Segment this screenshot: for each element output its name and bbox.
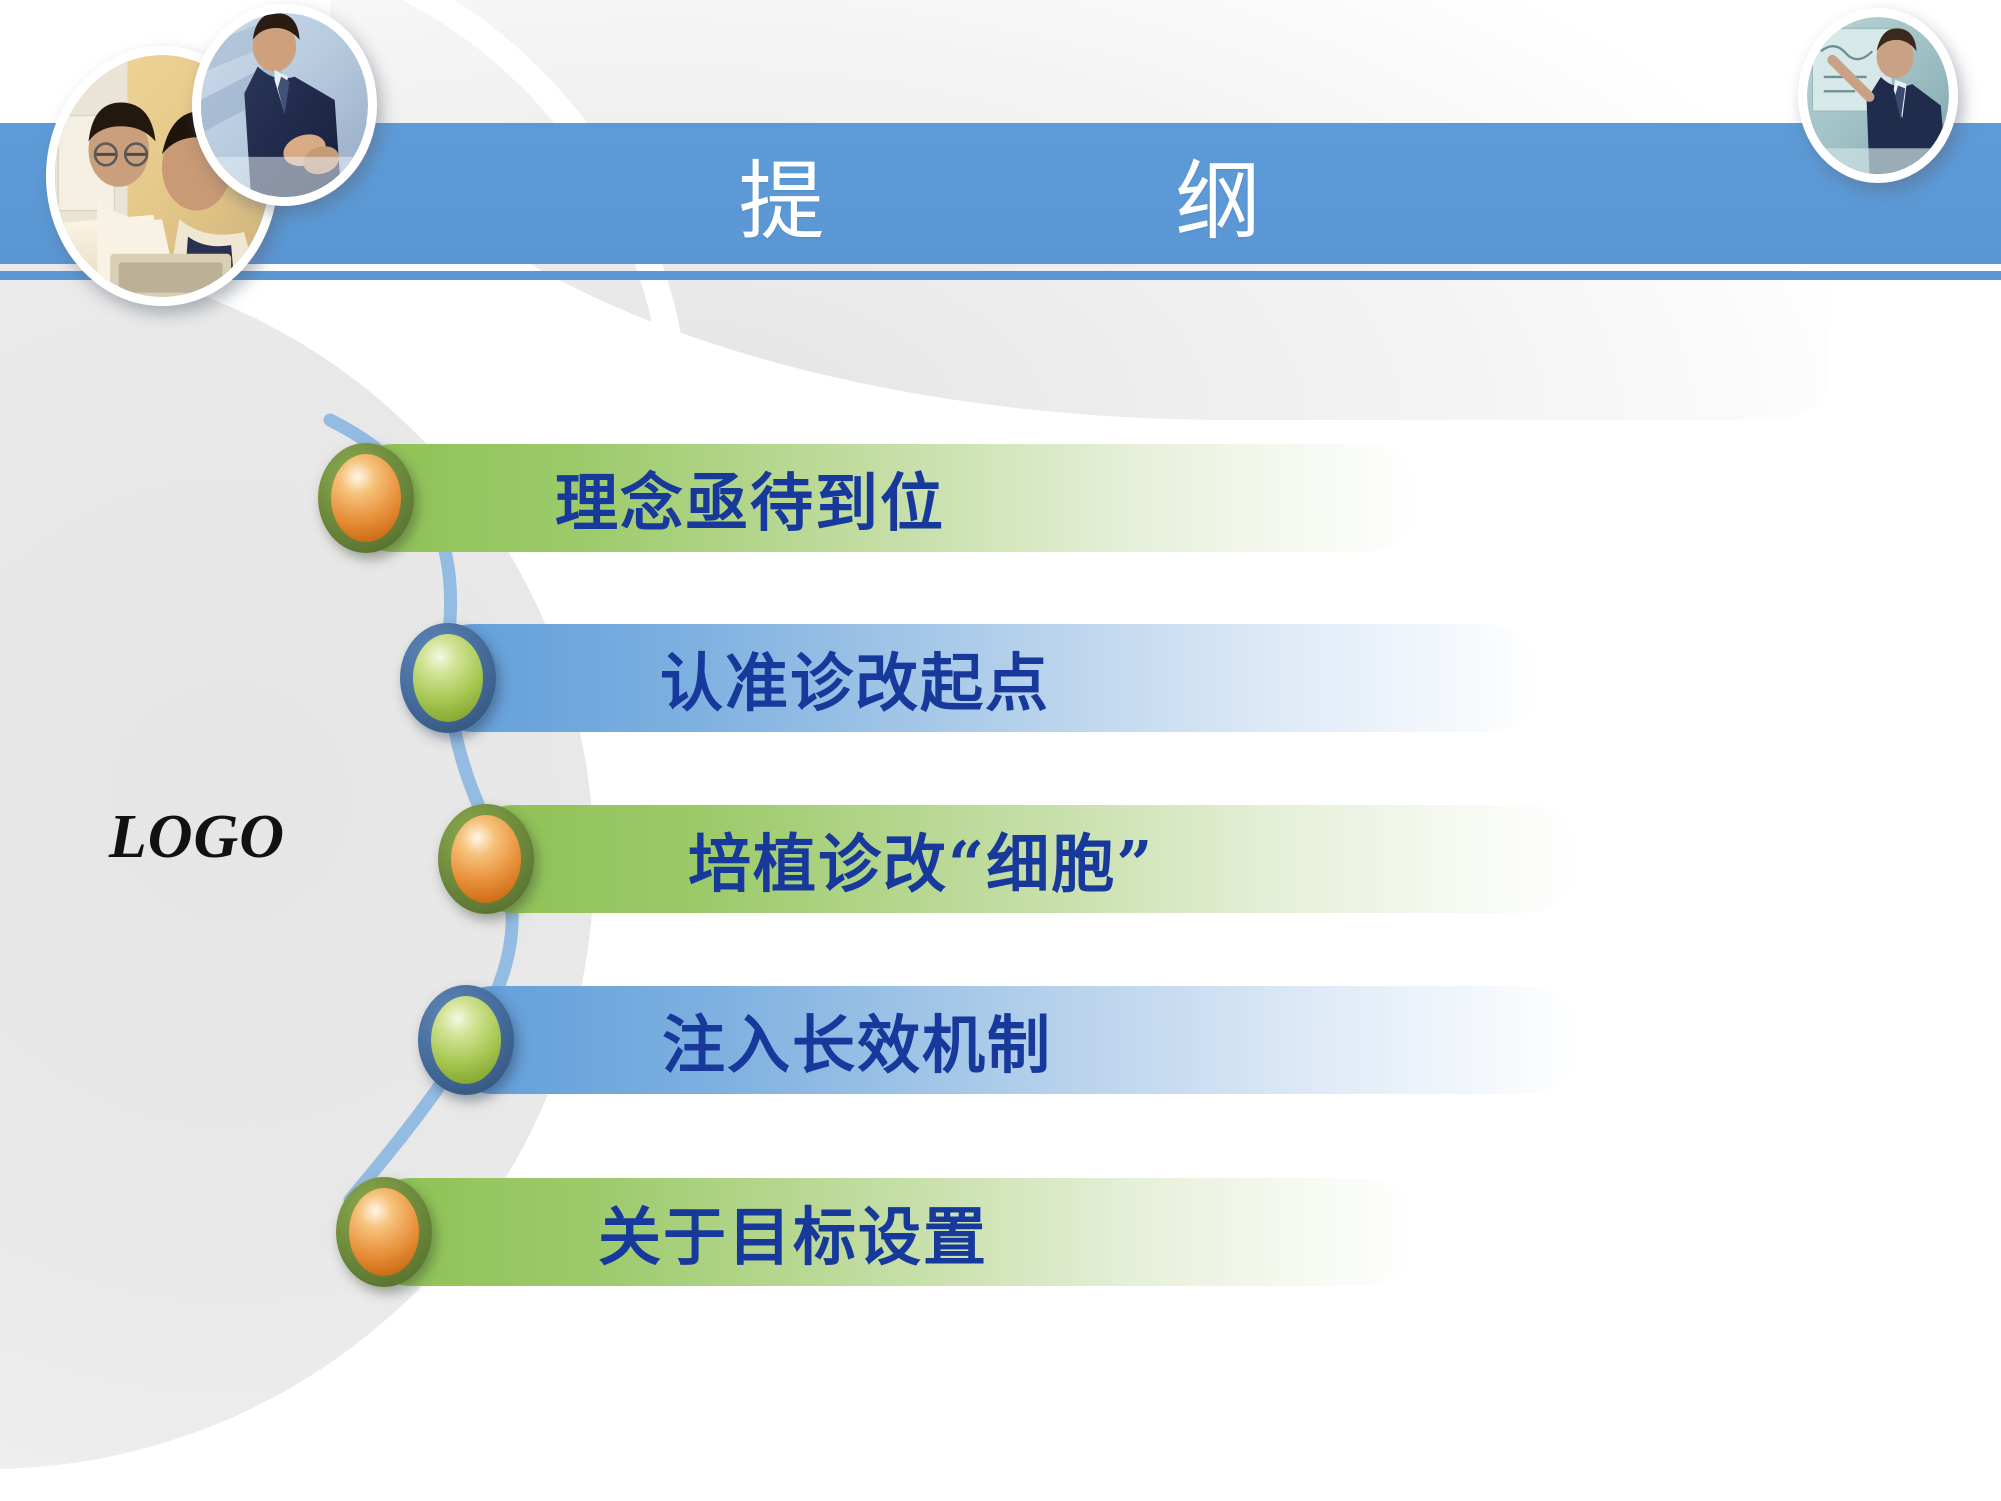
sphere-core-icon bbox=[413, 634, 483, 722]
outline-bar-4[interactable]: 注入长效机制 bbox=[440, 986, 1580, 1094]
outline-label-5: 关于目标设置 bbox=[598, 1187, 988, 1278]
outline-bar-2[interactable]: 认准诊改起点 bbox=[420, 624, 1540, 732]
outline-bar-1[interactable]: 理念亟待到位 bbox=[340, 444, 1420, 552]
outline-label-4: 注入长效机制 bbox=[662, 995, 1052, 1086]
sphere-core-icon bbox=[349, 1188, 419, 1276]
outline-bullet-1[interactable] bbox=[318, 443, 414, 553]
outline-bullet-5[interactable] bbox=[336, 1177, 432, 1287]
title-band-rule bbox=[0, 271, 2001, 280]
outline-label-1: 理念亟待到位 bbox=[555, 453, 945, 544]
outline-bullet-2[interactable] bbox=[400, 623, 496, 733]
sphere-core-icon bbox=[431, 996, 501, 1084]
photo-businessman-handshake-image bbox=[201, 13, 368, 197]
outline-bar-3[interactable]: 培植诊改“细胞” bbox=[460, 805, 1580, 913]
slide-canvas: 提 纲 bbox=[0, 0, 2001, 1501]
outline-bullet-3[interactable] bbox=[438, 804, 534, 914]
photo-man-at-whiteboard bbox=[1798, 8, 1958, 183]
outline-label-2: 认准诊改起点 bbox=[660, 633, 1050, 724]
photo-man-at-whiteboard-image bbox=[1807, 17, 1949, 174]
photo-businessman-handshake bbox=[192, 4, 377, 206]
outline-bullet-4[interactable] bbox=[418, 985, 514, 1095]
outline-bar-5[interactable]: 关于目标设置 bbox=[358, 1178, 1418, 1286]
logo-text: LOGO bbox=[42, 802, 352, 873]
sphere-core-icon bbox=[331, 454, 401, 542]
sphere-core-icon bbox=[451, 815, 521, 903]
outline-label-3: 培植诊改“细胞” bbox=[688, 814, 1154, 905]
